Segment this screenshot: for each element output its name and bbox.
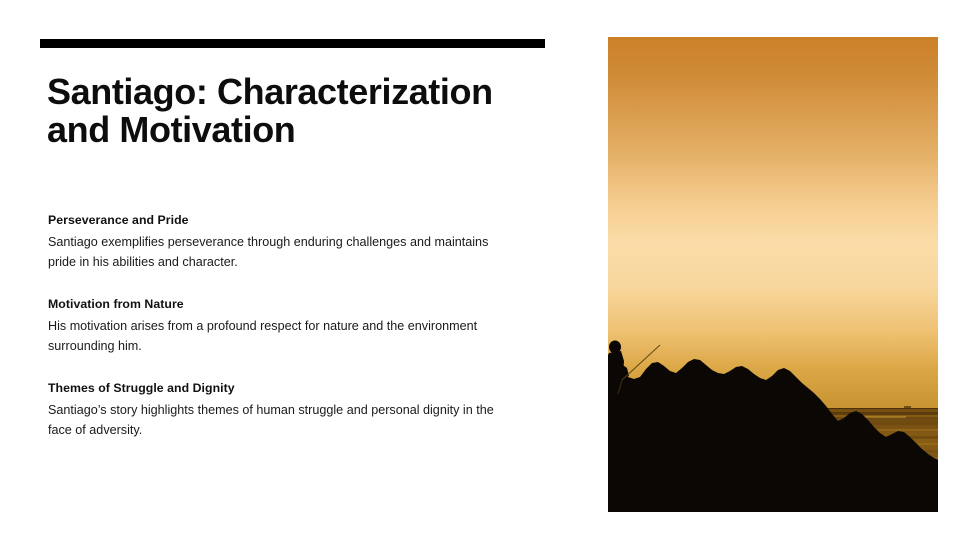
page-title: Santiago: Characterization and Motivatio… <box>47 73 547 149</box>
section-perseverance-and-pride: Perseverance and Pride Santiago exemplif… <box>48 212 528 272</box>
section-heading: Motivation from Nature <box>48 296 528 312</box>
section-motivation-from-nature: Motivation from Nature His motivation ar… <box>48 296 528 356</box>
section-body: Santiago’s story highlights themes of hu… <box>48 401 518 440</box>
title-accent-bar <box>40 39 545 48</box>
section-themes-of-struggle-and-dignity: Themes of Struggle and Dignity Santiago’… <box>48 380 528 440</box>
slide: Santiago: Characterization and Motivatio… <box>0 0 978 550</box>
sunset-fisherman-photo <box>608 37 938 512</box>
section-list: Perseverance and Pride Santiago exemplif… <box>48 212 528 440</box>
section-heading: Themes of Struggle and Dignity <box>48 380 528 396</box>
slide-content-column: Santiago: Characterization and Motivatio… <box>0 0 600 550</box>
section-body: His motivation arises from a profound re… <box>48 317 518 356</box>
section-heading: Perseverance and Pride <box>48 212 528 228</box>
section-body: Santiago exemplifies perseverance throug… <box>48 233 518 272</box>
